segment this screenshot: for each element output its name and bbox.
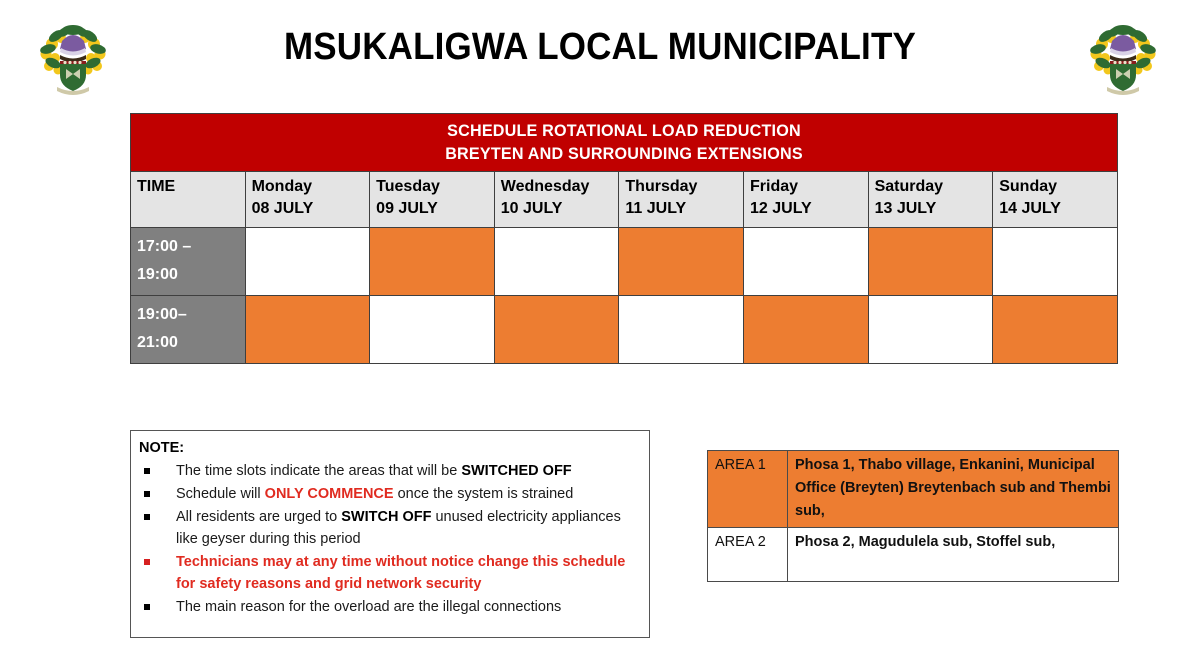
note-item-text: Schedule will ONLY COMMENCE once the sys… bbox=[176, 483, 639, 505]
time-slot-label: 17:00 –19:00 bbox=[131, 228, 246, 296]
day-date: 11 JULY bbox=[625, 198, 743, 220]
note-item: Technicians may at any time without noti… bbox=[139, 551, 639, 595]
schedule-slot-saturday-off-period bbox=[868, 228, 993, 296]
schedule-slot-monday-off-period bbox=[245, 296, 370, 364]
note-list: The time slots indicate the areas that w… bbox=[139, 460, 639, 618]
note-item-text: The main reason for the overload are the… bbox=[176, 596, 639, 618]
day-header-monday: Monday08 JULY bbox=[245, 172, 370, 228]
area-definitions-table: AREA 1Phosa 1, Thabo village, Enkanini, … bbox=[707, 450, 1119, 582]
day-header-saturday: Saturday13 JULY bbox=[868, 172, 993, 228]
day-date: 12 JULY bbox=[750, 198, 868, 220]
area-label: AREA 2 bbox=[708, 528, 788, 582]
coat-of-arms-icon bbox=[36, 14, 110, 98]
bullet-icon bbox=[144, 604, 150, 610]
time-line-2: 19:00 bbox=[137, 261, 245, 289]
schedule-slot-sunday-on-period bbox=[993, 228, 1118, 296]
schedule-slot-friday-off-period bbox=[744, 296, 869, 364]
day-header-tuesday: Tuesday09 JULY bbox=[370, 172, 495, 228]
note-item-text: Technicians may at any time without noti… bbox=[176, 551, 639, 595]
bullet-icon bbox=[144, 559, 150, 565]
day-name: Thursday bbox=[625, 176, 743, 198]
bullet-icon bbox=[144, 514, 150, 520]
note-item: Schedule will ONLY COMMENCE once the sys… bbox=[139, 483, 639, 505]
schedule-banner: SCHEDULE ROTATIONAL LOAD REDUCTION BREYT… bbox=[131, 114, 1118, 172]
note-item: All residents are urged to SWITCH OFF un… bbox=[139, 506, 639, 550]
schedule-slot-monday-on-period bbox=[245, 228, 370, 296]
day-date: 14 JULY bbox=[999, 198, 1117, 220]
day-name: Wednesday bbox=[501, 176, 619, 198]
time-line-1: 17:00 – bbox=[137, 233, 245, 261]
coat-of-arms-icon bbox=[1086, 14, 1160, 98]
day-date: 08 JULY bbox=[252, 198, 370, 220]
day-date: 09 JULY bbox=[376, 198, 494, 220]
time-column-header: TIME bbox=[131, 172, 246, 228]
day-header-friday: Friday12 JULY bbox=[744, 172, 869, 228]
day-date: 13 JULY bbox=[875, 198, 993, 220]
day-name: Saturday bbox=[875, 176, 993, 198]
time-slot-label: 19:00–21:00 bbox=[131, 296, 246, 364]
page-header: MSUKALIGWA LOCAL MUNICIPALITY bbox=[0, 0, 1200, 102]
schedule-slot-friday-on-period bbox=[744, 228, 869, 296]
area-row: AREA 2Phosa 2, Magudulela sub, Stoffel s… bbox=[708, 528, 1119, 582]
day-header-sunday: Sunday14 JULY bbox=[993, 172, 1118, 228]
day-name: Tuesday bbox=[376, 176, 494, 198]
schedule-row: 17:00 –19:00 bbox=[131, 228, 1118, 296]
time-line-2: 21:00 bbox=[137, 329, 245, 357]
bullet-icon bbox=[144, 491, 150, 497]
note-item-text: All residents are urged to SWITCH OFF un… bbox=[176, 506, 639, 550]
schedule-slot-thursday-on-period bbox=[619, 296, 744, 364]
note-item-text: The time slots indicate the areas that w… bbox=[176, 460, 639, 482]
schedule-row: 19:00–21:00 bbox=[131, 296, 1118, 364]
banner-line-1: SCHEDULE ROTATIONAL LOAD REDUCTION bbox=[156, 119, 1093, 142]
day-header-thursday: Thursday11 JULY bbox=[619, 172, 744, 228]
schedule-slot-saturday-on-period bbox=[868, 296, 993, 364]
schedule-header-row: TIME Monday08 JULYTuesday09 JULYWednesda… bbox=[131, 172, 1118, 228]
area-label: AREA 1 bbox=[708, 451, 788, 528]
note-item: The time slots indicate the areas that w… bbox=[139, 460, 639, 482]
day-header-wednesday: Wednesday10 JULY bbox=[494, 172, 619, 228]
note-box: NOTE: The time slots indicate the areas … bbox=[130, 430, 650, 638]
banner-line-2: BREYTEN AND SURROUNDING EXTENSIONS bbox=[156, 142, 1093, 165]
schedule-banner-row: SCHEDULE ROTATIONAL LOAD REDUCTION BREYT… bbox=[131, 114, 1118, 172]
day-name: Sunday bbox=[999, 176, 1117, 198]
day-date: 10 JULY bbox=[501, 198, 619, 220]
area-description: Phosa 1, Thabo village, Enkanini, Munici… bbox=[788, 451, 1119, 528]
area-row: AREA 1Phosa 1, Thabo village, Enkanini, … bbox=[708, 451, 1119, 528]
schedule-slot-tuesday-off-period bbox=[370, 228, 495, 296]
note-title: NOTE: bbox=[139, 439, 639, 457]
load-reduction-schedule-table: SCHEDULE ROTATIONAL LOAD REDUCTION BREYT… bbox=[130, 113, 1118, 364]
page-title: MSUKALIGWA LOCAL MUNICIPALITY bbox=[204, 26, 995, 69]
schedule-slot-wednesday-off-period bbox=[494, 296, 619, 364]
day-name: Monday bbox=[252, 176, 370, 198]
note-item: The main reason for the overload are the… bbox=[139, 596, 639, 618]
bullet-icon bbox=[144, 468, 150, 474]
schedule-slot-wednesday-on-period bbox=[494, 228, 619, 296]
time-line-1: 19:00– bbox=[137, 301, 245, 329]
schedule-slot-thursday-off-period bbox=[619, 228, 744, 296]
day-name: Friday bbox=[750, 176, 868, 198]
schedule-slot-tuesday-on-period bbox=[370, 296, 495, 364]
schedule-slot-sunday-off-period bbox=[993, 296, 1118, 364]
area-description: Phosa 2, Magudulela sub, Stoffel sub, bbox=[788, 528, 1119, 582]
